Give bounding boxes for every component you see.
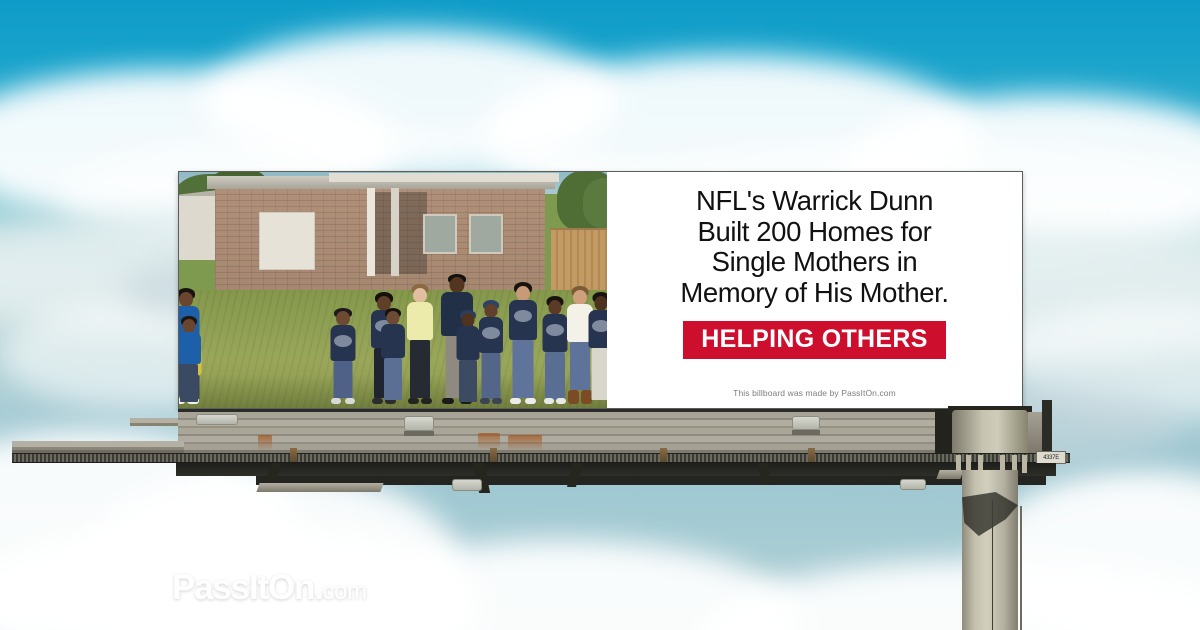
rail-hanger [808, 448, 815, 462]
photo-person [543, 296, 567, 404]
photo-person [457, 310, 479, 404]
billboard-bracket [935, 409, 953, 455]
billboard-headline: NFL's Warrick Dunn Built 200 Homes for S… [617, 186, 1012, 308]
rust-streak [258, 435, 272, 451]
rail-hanger [490, 448, 497, 462]
billboard-light-fixture [196, 414, 238, 425]
photo-tree [583, 178, 607, 228]
headline-line-2: Built 200 Homes for [617, 217, 1012, 248]
billboard-assembly: NFL's Warrick Dunn Built 200 Homes for S… [0, 0, 1200, 630]
photo-person [509, 282, 537, 404]
billboard-message-panel: NFL's Warrick Dunn Built 200 Homes for S… [607, 172, 1022, 408]
photo-person [179, 316, 201, 404]
headline-line-4: Memory of His Mother. [617, 278, 1012, 309]
photo-person [589, 292, 607, 404]
photo-porch-column [391, 188, 399, 276]
rust-streak [508, 435, 542, 451]
billboard-rail-stack [178, 409, 1030, 453]
light-fixture-arm [404, 431, 434, 436]
logo-wordmark: PassItOn [172, 568, 314, 607]
rail-hanger [290, 448, 297, 462]
monopole-cap [952, 410, 1028, 456]
billboard-rail-extension [12, 441, 184, 453]
photo-person [381, 308, 405, 404]
monopole-cable [1020, 506, 1022, 630]
monopole-cable [992, 500, 993, 630]
photo-person [479, 300, 503, 404]
catwalk-kickplate [936, 470, 963, 479]
billboard-face: NFL's Warrick Dunn Built 200 Homes for S… [178, 171, 1023, 409]
billboard-support-beam [176, 463, 1056, 476]
billboard-light-fixture [792, 416, 820, 430]
logo-tld: com [323, 578, 367, 605]
photo-person [331, 308, 355, 404]
logo-dot: . [314, 568, 323, 607]
headline-line-3: Single Mothers in [617, 247, 1012, 278]
rust-streak [478, 433, 500, 449]
photo-porch-shadow [375, 192, 427, 274]
photo-porch-column [367, 188, 375, 276]
billboard-photo [179, 172, 607, 408]
light-fixture-arm [792, 430, 820, 435]
billboard-credit-text: This billboard was made by PassItOn.com [733, 388, 896, 398]
billboard-light-fixture [900, 479, 926, 490]
photo-person [407, 284, 433, 404]
photo-garage-door [259, 212, 315, 270]
billboard-catwalk [12, 453, 1070, 463]
photo-window [423, 214, 457, 254]
photo-roof-eave [329, 173, 559, 182]
billboard-light-fixture [452, 479, 482, 491]
passiton-logo[interactable]: PassItOn.com [172, 570, 367, 605]
headline-line-1: NFL's Warrick Dunn [617, 186, 1012, 217]
billboard-rail-tail [1042, 400, 1052, 456]
photo-window [469, 214, 503, 254]
catwalk-kickplate [256, 483, 383, 492]
rail-hanger [660, 448, 667, 462]
billboard-light-fixture [404, 416, 434, 431]
monopole-gusset [1022, 455, 1027, 473]
helping-others-badge: HELPING OTHERS [683, 321, 945, 359]
